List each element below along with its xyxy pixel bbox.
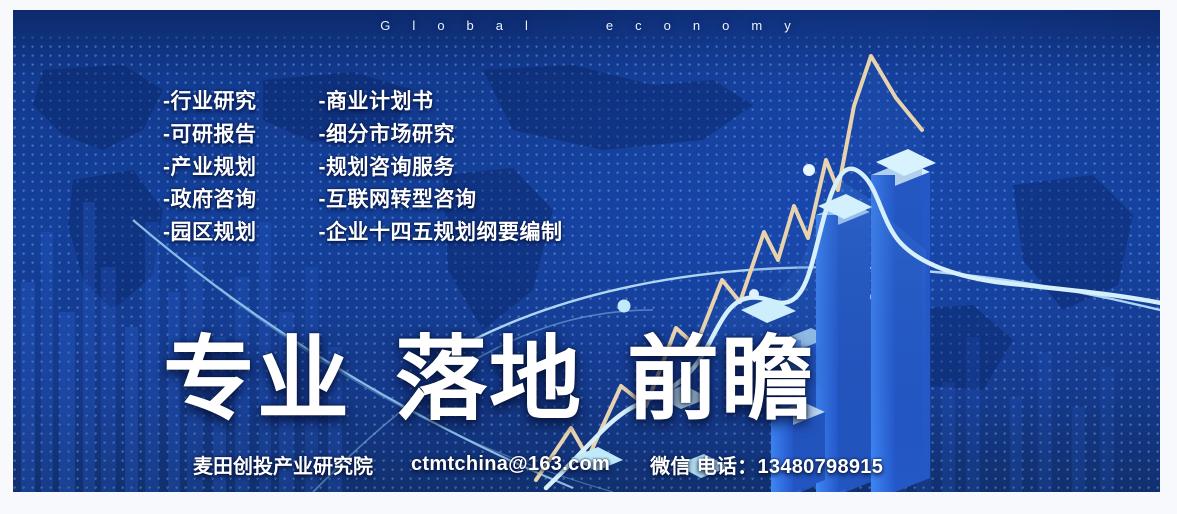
service-item: -企业十四五规划纲要编制	[319, 221, 563, 246]
service-item: -商业计划书	[319, 90, 563, 115]
service-lists: -行业研究 -可研报告 -产业规划 -政府咨询 -园区规划 -商业计划书 -细分…	[163, 90, 563, 246]
top-letter: l	[525, 18, 530, 33]
top-letter: c	[635, 18, 644, 33]
top-letter: G	[380, 18, 392, 33]
service-item: -产业规划	[163, 156, 257, 181]
promo-banner: G l o b a l e c o n o m y -行业研究 -可研报告 -产…	[13, 10, 1160, 492]
curve-node-dot	[749, 289, 759, 299]
service-item: -行业研究	[163, 90, 257, 115]
top-letter: m	[751, 18, 764, 33]
top-letter: a	[496, 18, 505, 33]
footer-contact-bar: 麦田创投产业研究院 ctmtchina@163.com 微信 电话：134807…	[193, 450, 883, 479]
service-item: -互联网转型咨询	[319, 188, 563, 213]
service-item: -规划咨询服务	[319, 156, 563, 181]
service-item: -政府咨询	[163, 188, 257, 213]
headline-word-1: 专业	[163, 305, 351, 438]
top-tagline: G l o b a l e c o n o m y	[13, 12, 1160, 38]
contact-phone: 微信 电话：13480798915	[650, 450, 883, 479]
screenshot-root: G l o b a l e c o n o m y -行业研究 -可研报告 -产…	[0, 0, 1177, 514]
service-item: -细分市场研究	[319, 123, 563, 148]
top-letter: o	[664, 18, 673, 33]
headline-word-2: 落地	[395, 305, 583, 438]
headline: 专业 落地 前瞻	[163, 305, 815, 438]
service-item: -可研报告	[163, 123, 257, 148]
top-letter: l	[412, 18, 417, 33]
top-letter: b	[467, 18, 476, 33]
email-address[interactable]: ctmtchina@163.com	[411, 453, 610, 476]
top-letter: o	[722, 18, 731, 33]
service-list-right: -商业计划书 -细分市场研究 -规划咨询服务 -互联网转型咨询 -企业十四五规划…	[319, 90, 563, 246]
top-letter: n	[693, 18, 702, 33]
headline-word-3: 前瞻	[627, 305, 815, 438]
curve-peak-dot	[803, 164, 815, 176]
service-list-left: -行业研究 -可研报告 -产业规划 -政府咨询 -园区规划	[163, 90, 257, 246]
top-letter: e	[606, 18, 615, 33]
service-item: -园区规划	[163, 221, 257, 246]
top-letter: o	[437, 18, 446, 33]
top-letter: y	[784, 18, 793, 33]
organization-name: 麦田创投产业研究院	[193, 450, 373, 479]
